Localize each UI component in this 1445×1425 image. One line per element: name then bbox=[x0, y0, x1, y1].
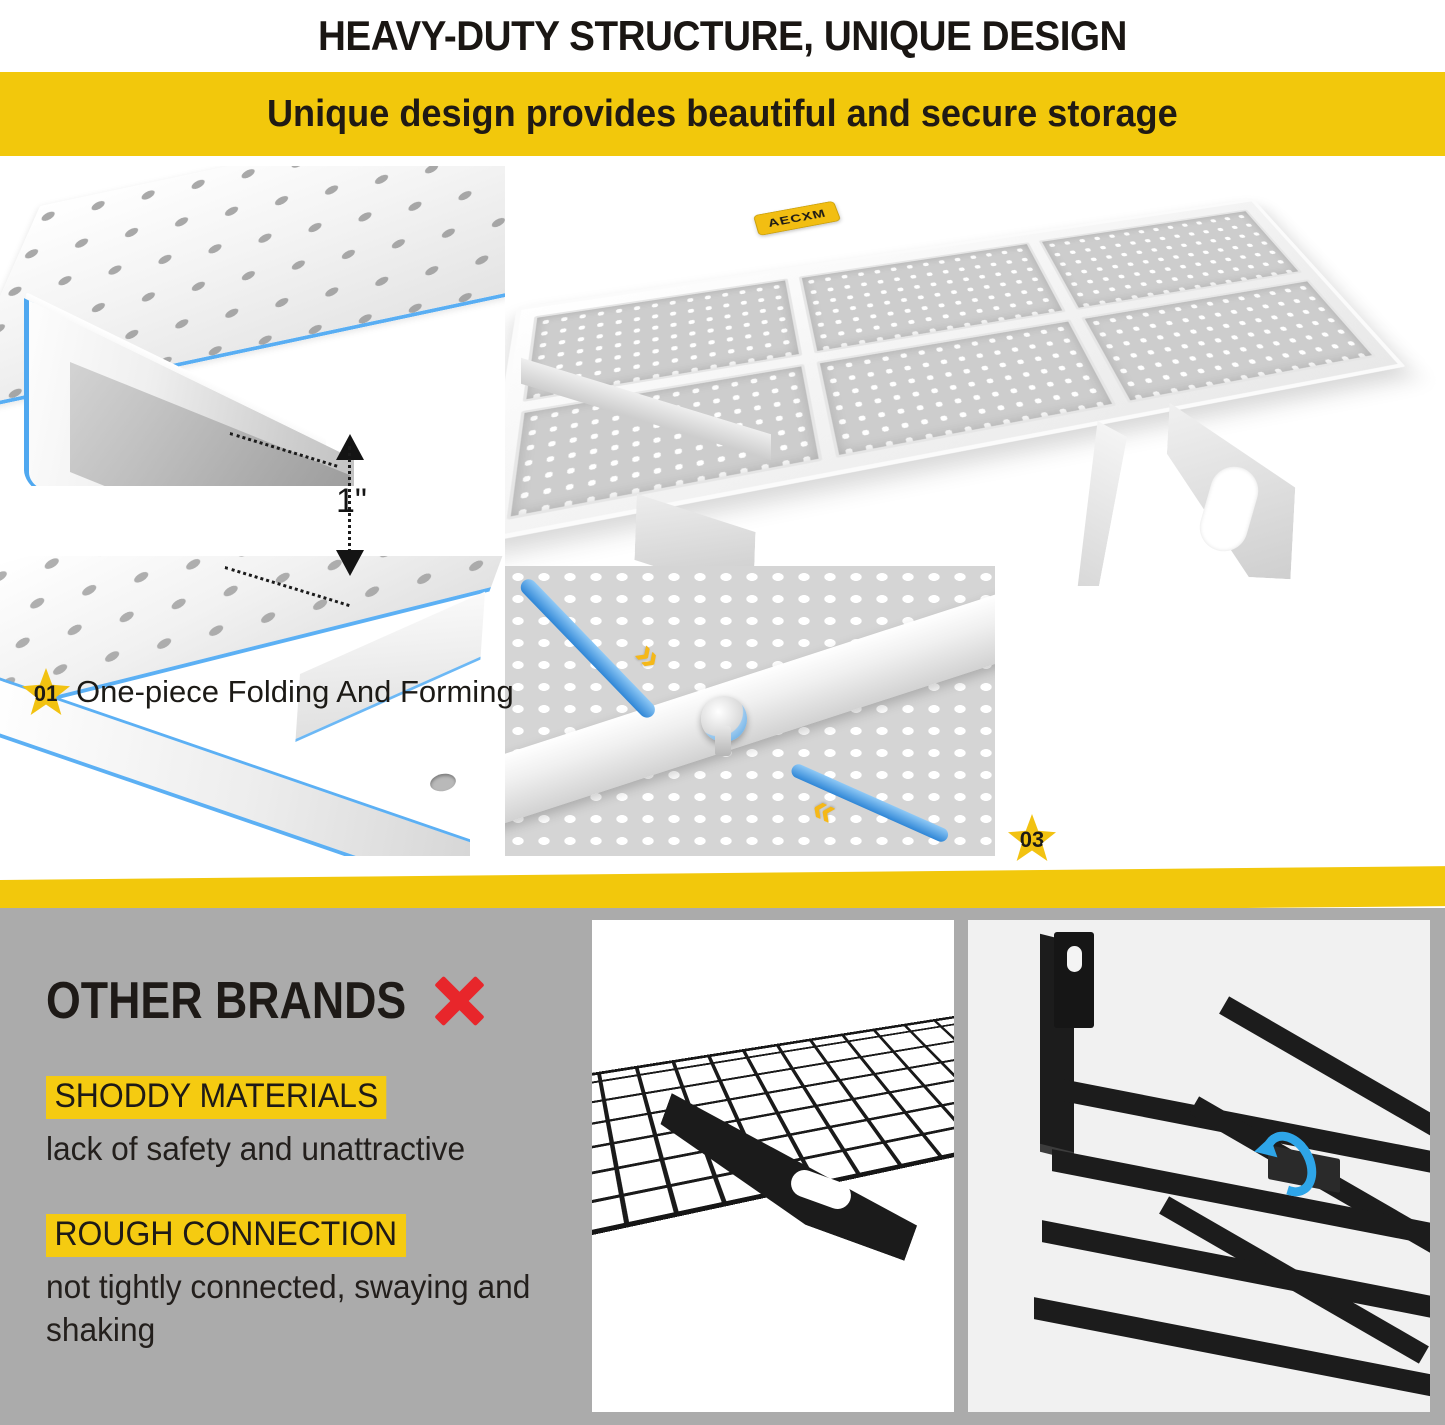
photo-main-shelf: AECXM bbox=[505, 166, 1445, 586]
comparison-section: OTHER BRANDS SHODDY MATERIALS lack of sa… bbox=[0, 908, 1445, 1425]
feature-number: 03 bbox=[1020, 827, 1044, 853]
wire-mesh-frame bbox=[592, 1015, 954, 1251]
star-badge-icon: 03 bbox=[1008, 814, 1056, 862]
feature-label: One-piece Folding And Forming bbox=[76, 672, 514, 711]
screw-hole bbox=[429, 771, 458, 793]
wall-mount-plate bbox=[1054, 932, 1094, 1028]
header-yellow-band: Unique design provides beautiful and sec… bbox=[0, 72, 1445, 156]
infographic-page: HEAVY-DUTY STRUCTURE, UNIQUE DESIGN Uniq… bbox=[0, 0, 1445, 1425]
support-post bbox=[1063, 421, 1127, 586]
page-subtitle: Unique design provides beautiful and sec… bbox=[267, 93, 1178, 136]
arrow-down-icon bbox=[336, 550, 364, 576]
dimension-value: 1" bbox=[336, 482, 367, 521]
photo-slide-rail: » » bbox=[505, 566, 995, 856]
comparison-detail: not tightly connected, swaying and shaki… bbox=[46, 1266, 564, 1352]
feature-caption-01: 01 One-piece Folding And Forming bbox=[22, 668, 514, 716]
comparison-heading: SHODDY MATERIALS bbox=[46, 1076, 387, 1119]
comparison-detail: lack of safety and unattractive bbox=[46, 1128, 545, 1171]
features-section: 1" AECXM bbox=[0, 156, 1445, 886]
comparison-heading: ROUGH CONNECTION bbox=[46, 1214, 406, 1257]
x-mark-icon bbox=[427, 970, 489, 1032]
photo-competitor-wire-shelf bbox=[592, 920, 954, 1412]
brand-logo: AECXM bbox=[753, 201, 841, 236]
comparison-title: OTHER BRANDS bbox=[46, 971, 406, 1031]
bolt-fastener bbox=[701, 696, 747, 742]
channel-interior bbox=[70, 362, 350, 486]
star-badge-icon: 01 bbox=[22, 668, 70, 716]
comparison-title-row: OTHER BRANDS bbox=[46, 970, 489, 1032]
dimension-annotation: 1" bbox=[318, 434, 438, 584]
photo-competitor-bar-rack bbox=[968, 920, 1430, 1412]
page-title: HEAVY-DUTY STRUCTURE, UNIQUE DESIGN bbox=[58, 2, 1387, 70]
comparison-item-2: ROUGH CONNECTION not tightly connected, … bbox=[46, 1214, 586, 1352]
feature-number: 01 bbox=[34, 681, 58, 707]
comparison-item-1: SHODDY MATERIALS lack of safety and unat… bbox=[46, 1076, 566, 1171]
